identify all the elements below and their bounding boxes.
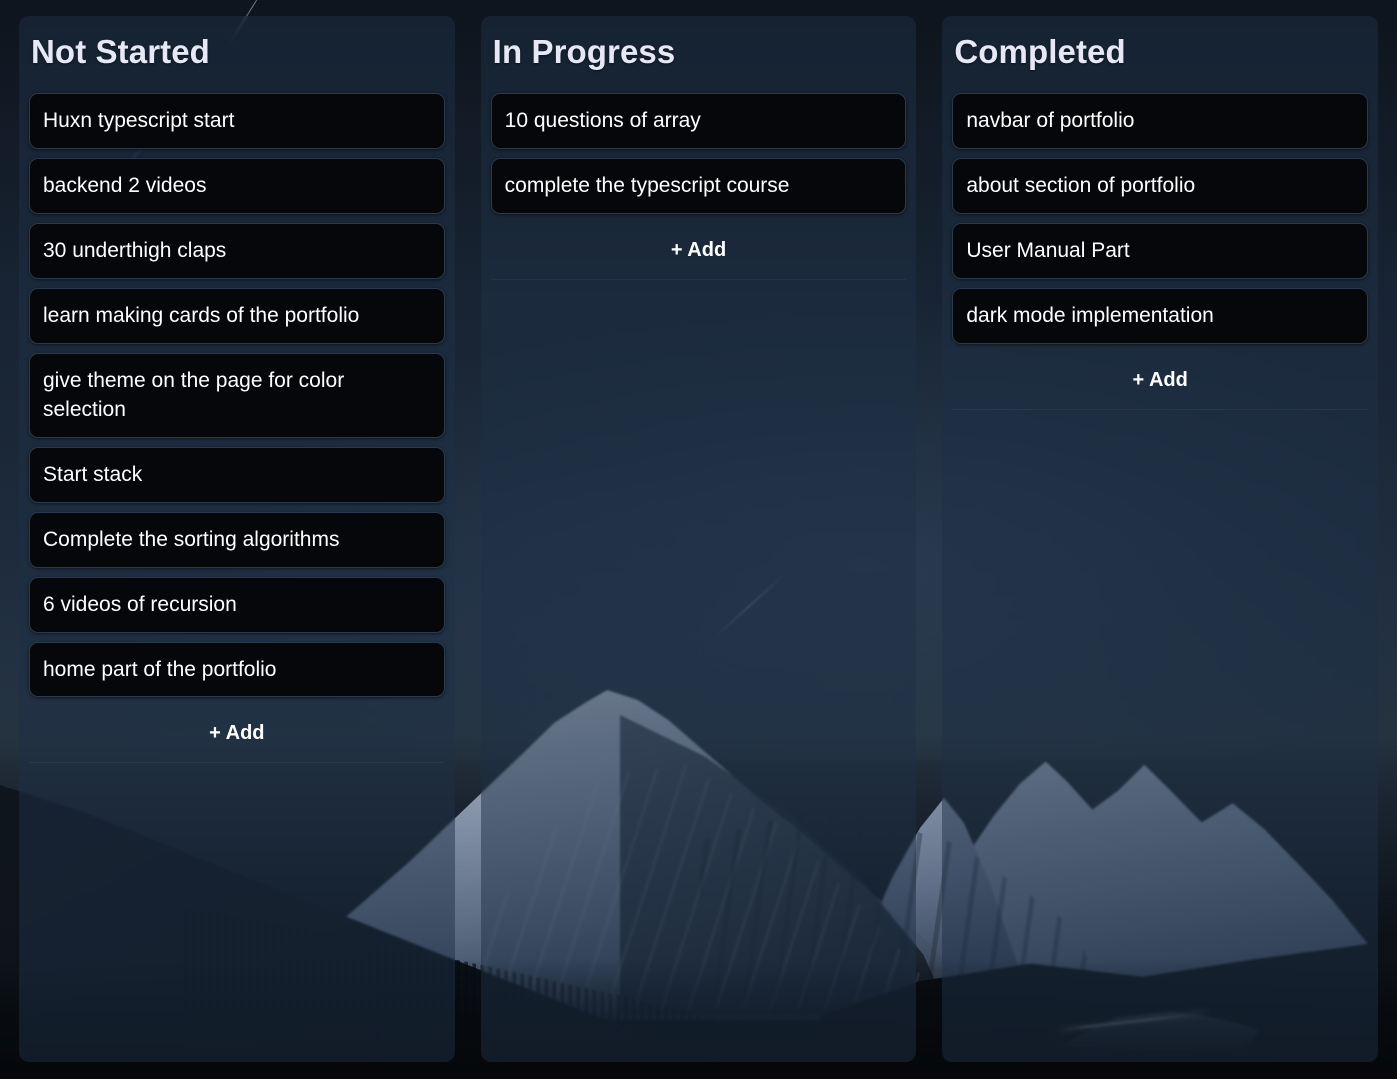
task-card[interactable]: navbar of portfolio — [952, 93, 1368, 149]
task-card[interactable]: learn making cards of the portfolio — [29, 288, 445, 344]
task-card[interactable]: 10 questions of array — [491, 93, 907, 149]
task-card[interactable]: dark mode implementation — [952, 288, 1368, 344]
card-list-not-started: Huxn typescript start backend 2 videos 3… — [29, 93, 445, 697]
kanban-board: Not Started Huxn typescript start backen… — [0, 0, 1397, 1079]
column-not-started[interactable]: Not Started Huxn typescript start backen… — [19, 16, 455, 1062]
column-title-not-started: Not Started — [29, 34, 445, 70]
task-card[interactable]: complete the typescript course — [491, 158, 907, 214]
task-card[interactable]: home part of the portfolio — [29, 642, 445, 698]
card-list-in-progress: 10 questions of array complete the types… — [491, 93, 907, 214]
task-card[interactable]: backend 2 videos — [29, 158, 445, 214]
task-card[interactable]: Start stack — [29, 447, 445, 503]
add-card-button-in-progress[interactable]: + Add — [491, 223, 907, 280]
task-card[interactable]: Huxn typescript start — [29, 93, 445, 149]
task-card[interactable]: Complete the sorting algorithms — [29, 512, 445, 568]
task-card[interactable]: 6 videos of recursion — [29, 577, 445, 633]
column-in-progress[interactable]: In Progress 10 questions of array comple… — [481, 16, 917, 1062]
column-title-in-progress: In Progress — [491, 34, 907, 70]
column-completed[interactable]: Completed navbar of portfolio about sect… — [942, 16, 1378, 1062]
column-title-completed: Completed — [952, 34, 1368, 70]
task-card[interactable]: about section of portfolio — [952, 158, 1368, 214]
task-card[interactable]: give theme on the page for color selecti… — [29, 353, 445, 439]
task-card[interactable]: User Manual Part — [952, 223, 1368, 279]
card-list-completed: navbar of portfolio about section of por… — [952, 93, 1368, 343]
add-card-button-not-started[interactable]: + Add — [29, 706, 445, 763]
add-card-button-completed[interactable]: + Add — [952, 353, 1368, 410]
task-card[interactable]: 30 underthigh claps — [29, 223, 445, 279]
